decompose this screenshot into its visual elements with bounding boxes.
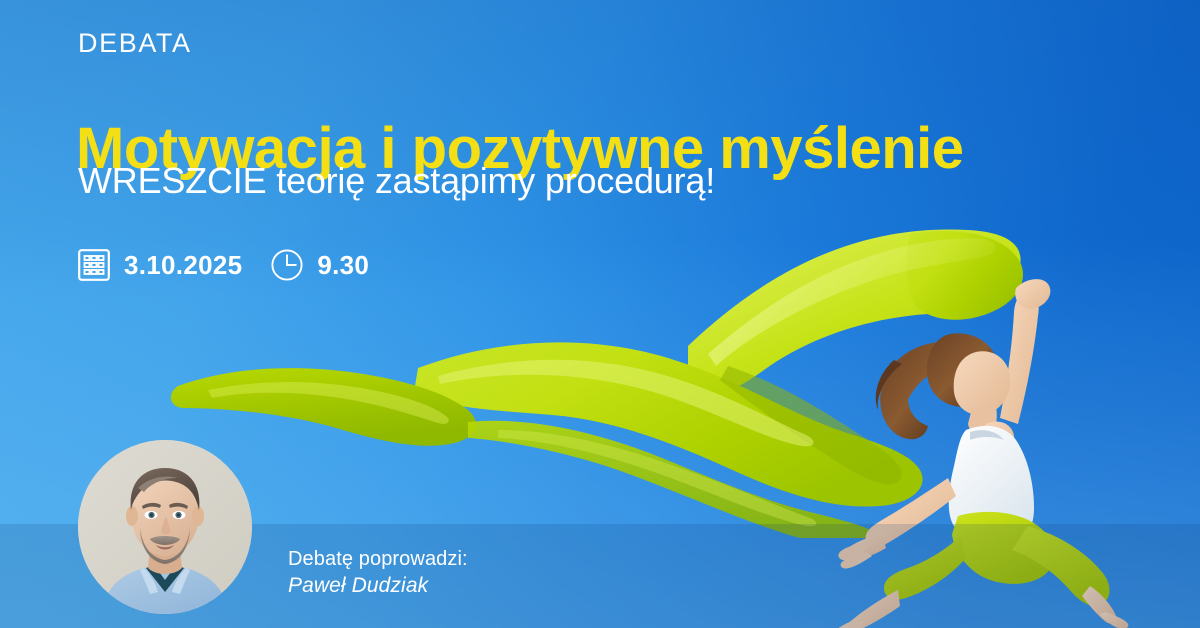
event-banner: DEBATA Motywacja i pozytywne myślenie WR… bbox=[0, 0, 1200, 628]
subtitle: WRESZCIE teorię zastąpimy procedurą! bbox=[78, 161, 715, 201]
calendar-icon bbox=[77, 248, 111, 282]
presenter-label: Debatę poprowadzi: bbox=[288, 546, 468, 572]
kicker-label: DEBATA bbox=[78, 30, 192, 57]
event-meta: 3.10.2025 9.30 bbox=[77, 243, 369, 287]
event-time: 9.30 bbox=[270, 248, 369, 282]
clock-icon bbox=[270, 248, 304, 282]
presenter-caption: Debatę poprowadzi: Paweł Dudziak bbox=[288, 546, 468, 600]
event-time-text: 9.30 bbox=[317, 252, 369, 278]
event-date: 3.10.2025 bbox=[77, 248, 242, 282]
avatar bbox=[78, 440, 252, 614]
event-date-text: 3.10.2025 bbox=[124, 252, 242, 278]
presenter-name: Paweł Dudziak bbox=[288, 572, 468, 600]
